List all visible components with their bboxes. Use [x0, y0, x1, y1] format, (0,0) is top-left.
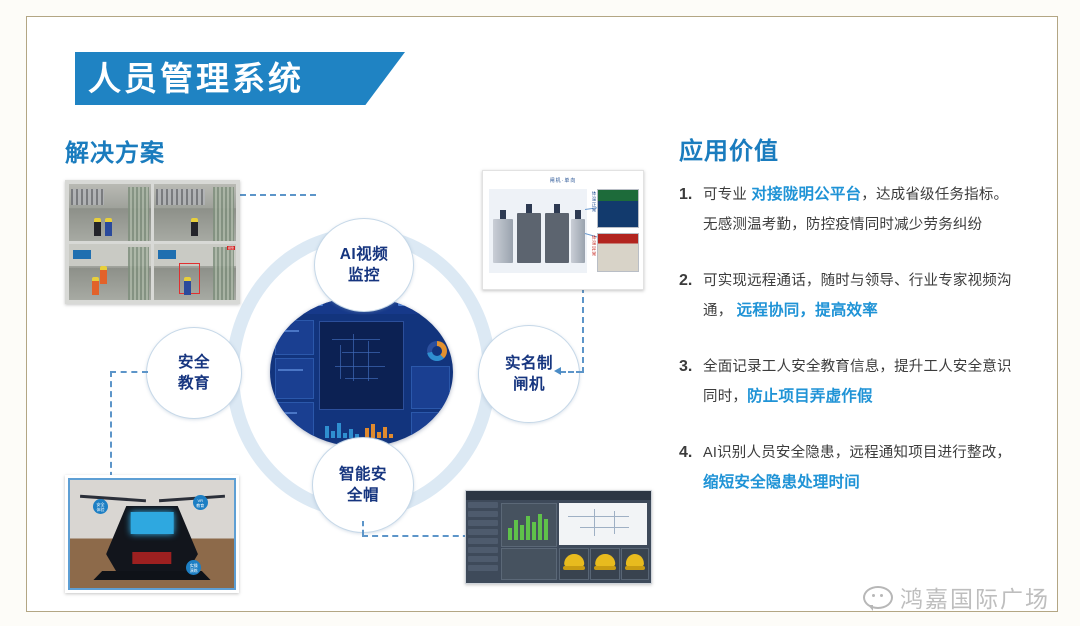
video-frame-4: 报警 — [154, 244, 236, 301]
central-dashboard-image — [270, 297, 453, 447]
video-frame-1 — [69, 184, 151, 241]
dashboard-right-panels — [409, 315, 449, 443]
dashboard-donut-chart — [427, 341, 447, 361]
gate-caption: 闸机·单向 — [550, 177, 577, 184]
dashboard-bar-chart-1 — [325, 423, 359, 438]
dashboard2-sidebar — [468, 502, 498, 580]
highlighted-phrase: 对接陇明公平台 — [751, 186, 861, 203]
helmet-thumbnail-1 — [559, 548, 589, 580]
solution-heading: 解决方案 — [65, 133, 165, 168]
helmet-thumbnail-3 — [621, 548, 649, 580]
helmet-thumbnail-2 — [590, 548, 620, 580]
node-label: 安全 教育 — [178, 352, 210, 394]
solution-diagram: AI视频 监控 实名制 闸机 智能安 全帽 安全 教育 — [40, 165, 660, 605]
page-title: 人员管理系统 — [88, 56, 304, 102]
dashboard2-chart-panel — [501, 503, 557, 547]
photo-vr-safety-education: 安全 体验 VR 教育 实操 演练 — [65, 475, 239, 593]
video-frame-3 — [69, 244, 151, 301]
highlighted-phrase: 防止项目弄虚作假 — [747, 388, 873, 405]
dashboard-bar-chart-2 — [365, 424, 393, 438]
vr-badge-2: VR 教育 — [193, 495, 208, 510]
dashboard2-stats-panel — [501, 548, 557, 580]
diagram-node-smart-helmet[interactable]: 智能安 全帽 — [312, 437, 414, 533]
dashboard2-topbar — [466, 491, 651, 500]
value-item-text: 可专业 对接陇明公平台，达成省级任务指标。无感测温考勤，防控疫情同时减少劳务纠纷 — [703, 180, 1019, 240]
gate-diagram — [489, 189, 587, 273]
node-label: AI视频 监控 — [340, 244, 389, 286]
connector-education-v — [110, 371, 112, 488]
value-item: 1. 可专业 对接陇明公平台，达成省级任务指标。无感测温考勤，防控疫情同时减少劳… — [679, 180, 1019, 240]
value-item-number: 2. — [679, 266, 703, 326]
connector-education-h — [110, 371, 148, 373]
dashboard-map-panel — [319, 321, 403, 410]
photo-ai-video-grid: 报警 — [65, 180, 240, 304]
value-item-text: 全面记录工人安全教育信息，提升工人安全意识同时，防止项目弄虚作假 — [703, 352, 1019, 412]
connector-arrow-turnstile — [554, 367, 561, 375]
vr-badge-1: 安全 体验 — [93, 499, 108, 514]
value-item-text: 可实现远程通话，随时与领导、行业专家视频沟通， 远程协同，提高效率 — [703, 266, 1019, 326]
connector-turnstile-v — [582, 277, 584, 373]
value-item-text: AI识别人员安全隐患，远程通知项目进行整改， 缩短安全隐患处理时间 — [703, 438, 1019, 498]
plain-phrase: AI识别人员安全隐患，远程通知项目进行整改， — [703, 445, 1011, 461]
photo-helmet-dashboard — [465, 490, 652, 584]
connector-turnstile-h — [560, 371, 582, 373]
connector-helmet-v — [362, 521, 364, 535]
watermark-text: 鸿嘉国际广场 — [900, 580, 1050, 614]
highlighted-phrase: 缩短安全隐患处理时间 — [703, 474, 860, 491]
value-item: 3. 全面记录工人安全教育信息，提升工人安全意识同时，防止项目弄虚作假 — [679, 352, 1019, 412]
gate-screen-photo-abnormal — [597, 233, 639, 272]
value-item-number: 3. — [679, 352, 703, 412]
watermark: 鸿嘉国际广场 — [863, 580, 1050, 614]
value-heading: 应用价值 — [679, 131, 779, 166]
node-label: 智能安 全帽 — [339, 464, 387, 506]
dashboard-left-panels — [274, 315, 314, 443]
slide-canvas: 人员管理系统 解决方案 应用价值 — [0, 0, 1080, 626]
value-item-number: 4. — [679, 438, 703, 498]
value-item: 4. AI识别人员安全隐患，远程通知项目进行整改， 缩短安全隐患处理时间 — [679, 438, 1019, 498]
diagram-node-turnstile[interactable]: 实名制 闸机 — [478, 325, 580, 423]
value-item: 2. 可实现远程通话，随时与领导、行业专家视频沟通， 远程协同，提高效率 — [679, 266, 1019, 326]
node-label: 实名制 闸机 — [505, 353, 553, 395]
gate-screen-photo-normal — [597, 189, 639, 228]
application-value-list: 1. 可专业 对接陇明公平台，达成省级任务指标。无感测温考勤，防控疫情同时减少劳… — [679, 180, 1019, 524]
chat-bubble-icon — [863, 586, 893, 609]
value-item-number: 1. — [679, 180, 703, 240]
video-frame-2 — [154, 184, 236, 241]
dashboard2-map-panel — [559, 503, 647, 545]
highlighted-phrase: 远程协同，提高效率 — [737, 302, 878, 319]
diagram-node-safety-education[interactable]: 安全 教育 — [146, 327, 242, 419]
photo-turnstile-gates: 闸机·单向 体温正常 体温异常 — [482, 170, 644, 290]
plain-phrase: 可专业 — [703, 187, 751, 203]
diagram-node-ai-video[interactable]: AI视频 监控 — [314, 218, 414, 312]
